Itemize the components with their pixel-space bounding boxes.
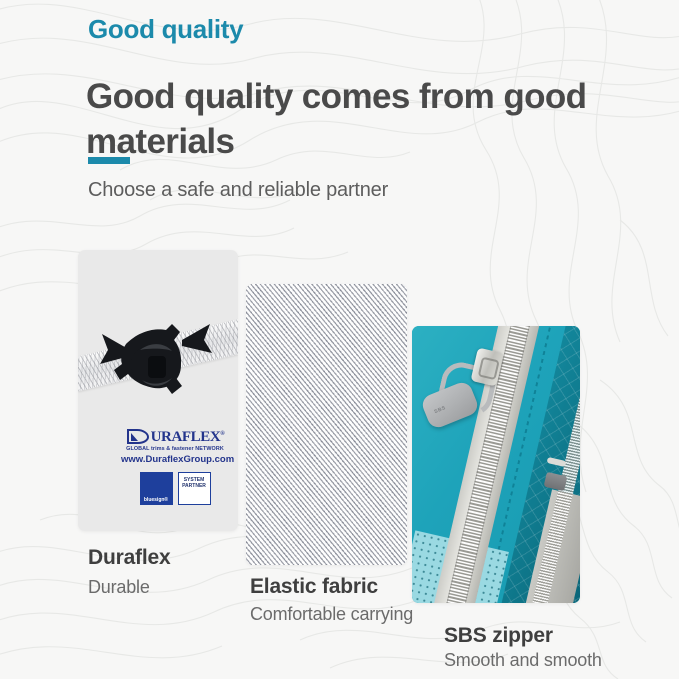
registered-mark-icon: ®	[220, 431, 224, 437]
zipper-scene: SBS	[412, 326, 580, 603]
sbs-zipper-photo: SBS	[412, 326, 580, 603]
duraflex-logo: URAFLEX® GLOBAL trims & fastener NETWORK…	[121, 428, 229, 505]
side-release-buckle-icon	[96, 306, 216, 410]
page-title: Good quality comes from good materials	[86, 75, 606, 165]
system-partner-badge: SYSTEM PARTNER	[178, 472, 211, 505]
feature-subtitle-duraflex: Durable	[88, 577, 150, 598]
zipper-pull-brand-text: SBS	[433, 405, 446, 415]
product-feature-banner: Good quality Good quality comes from goo…	[0, 0, 679, 679]
fabric-weave-texture	[246, 284, 407, 565]
feature-subtitle-elastic-fabric: Comfortable carrying	[250, 604, 413, 625]
duraflex-tagline: GLOBAL trims & fastener NETWORK	[121, 446, 229, 452]
feature-title-duraflex: Duraflex	[88, 546, 170, 570]
duraflex-buckle-photo: URAFLEX® GLOBAL trims & fastener NETWORK…	[78, 250, 238, 531]
certification-badges: bluesign® SYSTEM PARTNER	[121, 472, 229, 505]
feature-title-sbs-zipper: SBS zipper	[444, 624, 553, 648]
elastic-fabric-weave-photo	[246, 284, 407, 565]
duraflex-d-mark-icon	[126, 428, 150, 445]
duraflex-url: www.DuraflexGroup.com	[121, 454, 229, 465]
feature-subtitle-sbs-zipper: Smooth and smooth	[444, 650, 602, 671]
accent-divider	[88, 157, 130, 164]
bluesign-badge-label: bluesign®	[144, 497, 168, 503]
buckle-scene: URAFLEX® GLOBAL trims & fastener NETWORK…	[78, 250, 238, 531]
page-subtitle: Choose a safe and reliable partner	[88, 179, 388, 202]
system-partner-line2: PARTNER	[182, 483, 206, 489]
eyebrow-label: Good quality	[88, 14, 243, 45]
duraflex-wordmark-text: URAFLEX®	[151, 430, 225, 445]
duraflex-wordmark: URAFLEX®	[121, 428, 229, 445]
bluesign-badge: bluesign®	[140, 472, 173, 505]
feature-title-elastic-fabric: Elastic fabric	[250, 575, 378, 599]
